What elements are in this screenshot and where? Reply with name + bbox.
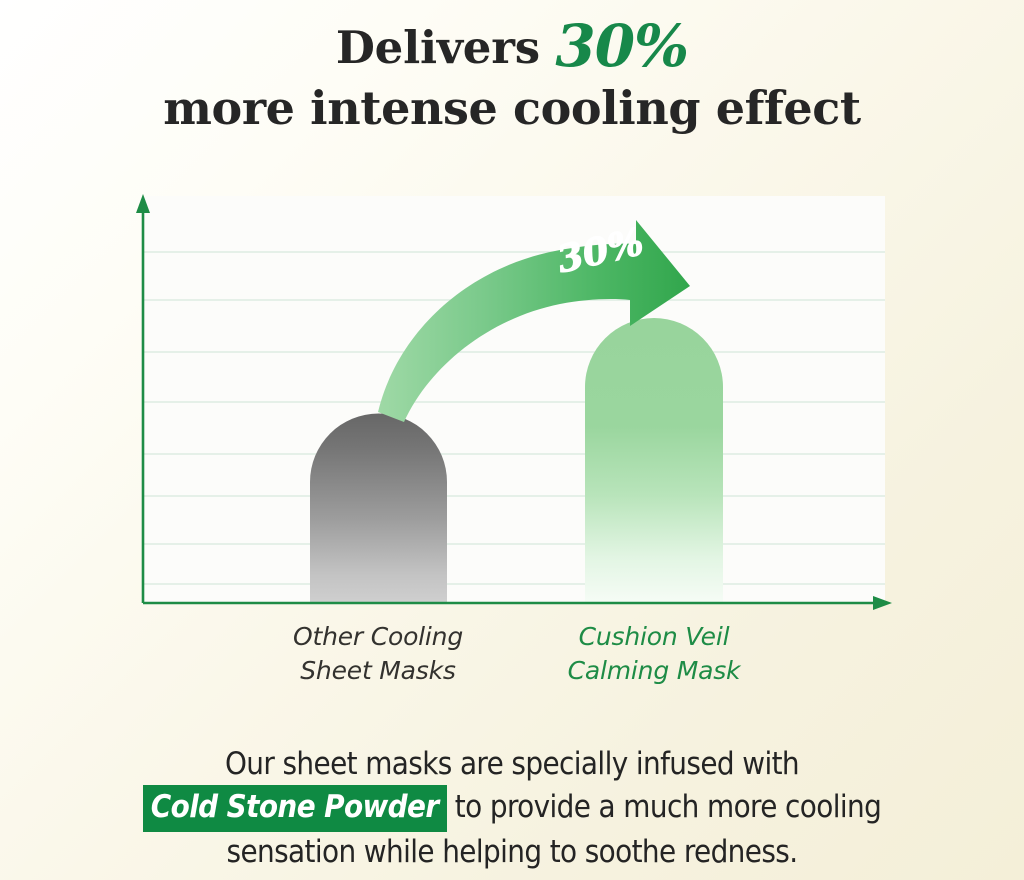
bar-other-cooling-sheet-masks [310,414,447,604]
category-label-other-cooling-sheet-masks: Other Cooling Sheet Masks [248,620,508,688]
footer-line-3: sensation while helping to soothe rednes… [0,832,1024,873]
headline-percent: 30% [555,12,688,80]
category-label-other-line-2: Sheet Masks [248,654,508,688]
category-label-cushion-line-2: Calming Mask [524,654,784,688]
headline-prefix: Delivers [336,21,556,74]
headline-line-1: Delivers 30% [0,14,1024,79]
category-label-cushion-line-1: Cushion Veil [524,620,784,654]
category-label-other-line-1: Other Cooling [248,620,508,654]
page-title: Delivers 30% more intense cooling effect [0,14,1024,134]
footer-line-1: Our sheet masks are specially infused wi… [0,744,1024,785]
cooling-comparison-chart: 30% [0,180,1024,700]
cold-stone-powder-highlight: Cold Stone Powder [143,785,447,832]
bar-cushion-veil-calming-mask [585,318,723,603]
headline-line-2: more intense cooling effect [0,83,1024,135]
plot-background [143,196,885,603]
footer-line-2: Cold Stone Powder to provide a much more… [0,785,1024,832]
chart-canvas: 30% [0,180,1024,700]
footer-description: Our sheet masks are specially infused wi… [0,744,1024,874]
footer-line-2-rest: to provide a much more cooling [447,789,882,825]
category-label-cushion-veil-calming-mask: Cushion Veil Calming Mask [524,620,784,688]
